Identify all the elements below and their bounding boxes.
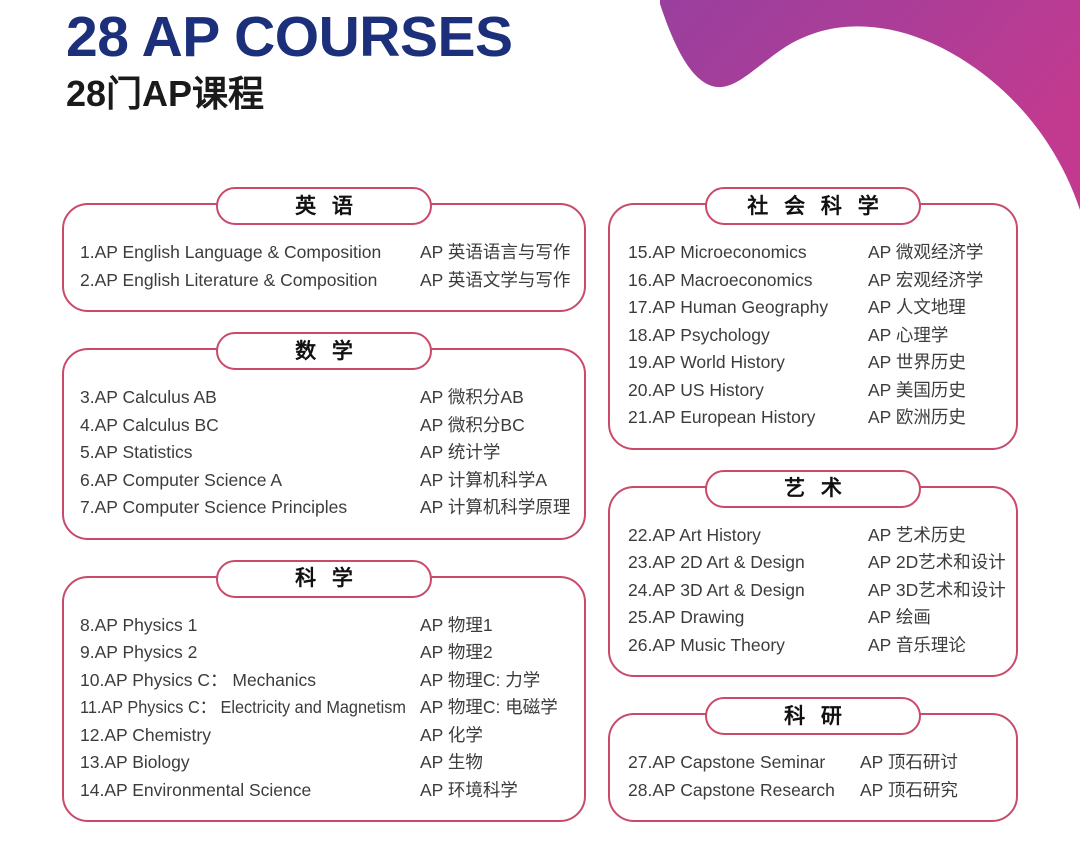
course-name-chinese: AP 微积分AB xyxy=(420,389,524,407)
course-row: 13.AP BiologyAP 生物 xyxy=(80,749,584,777)
subject-card-science: 科 学8.AP Physics 1AP 物理19.AP Physics 2AP … xyxy=(62,576,586,823)
subject-card-math: 数 学3.AP Calculus ABAP 微积分AB4.AP Calculus… xyxy=(62,348,586,540)
course-row: 3.AP Calculus ABAP 微积分AB xyxy=(80,384,584,412)
course-name-chinese: AP 人文地理 xyxy=(868,299,966,317)
course-name-chinese: AP 3D艺术和设计 xyxy=(868,582,1006,600)
subject-card-body: 15.AP MicroeconomicsAP 微观经济学16.AP Macroe… xyxy=(610,205,1016,448)
course-row: 2.AP English Literature & CompositionAP … xyxy=(80,267,584,295)
subject-card-title: 科 学 xyxy=(290,568,358,589)
course-name-chinese: AP 音乐理论 xyxy=(868,637,966,655)
subject-card-header-math: 数 学 xyxy=(216,332,432,370)
subject-card-title: 艺 术 xyxy=(779,478,847,499)
subject-card-english: 英 语1.AP English Language & CompositionAP… xyxy=(62,203,586,312)
subject-card-body: 3.AP Calculus ABAP 微积分AB4.AP Calculus BC… xyxy=(64,350,584,538)
course-row: 8.AP Physics 1AP 物理1 xyxy=(80,612,584,640)
course-name-chinese: AP 欧洲历史 xyxy=(868,409,966,427)
subject-card-title: 社 会 科 学 xyxy=(742,196,884,217)
subject-card-header-science: 科 学 xyxy=(216,560,432,598)
page-title-english: 28 AP COURSES xyxy=(66,8,513,68)
poster-page: 28 AP COURSES 28门AP课程 英 语1.AP English La… xyxy=(0,0,1080,866)
course-name-chinese: AP 微观经济学 xyxy=(868,244,983,262)
course-name-english: 24.AP 3D Art & Design xyxy=(628,582,868,600)
course-row: 6.AP Computer Science AAP 计算机科学A xyxy=(80,467,584,495)
purple-swirl-decoration xyxy=(660,0,1080,210)
course-row: 11.AP Physics C： Electricity and Magneti… xyxy=(80,694,584,722)
course-name-chinese: AP 物理1 xyxy=(420,617,493,635)
course-name-english: 28.AP Capstone Research xyxy=(628,782,860,800)
page-title-chinese: 28门AP课程 xyxy=(66,74,513,114)
subject-card-title: 英 语 xyxy=(290,196,358,217)
course-name-english: 9.AP Physics 2 xyxy=(80,644,420,662)
course-name-english: 19.AP World History xyxy=(628,354,868,372)
course-name-english: 26.AP Music Theory xyxy=(628,637,868,655)
course-name-chinese: AP 物理2 xyxy=(420,644,493,662)
subject-card-body: 8.AP Physics 1AP 物理19.AP Physics 2AP 物理2… xyxy=(64,578,584,821)
course-name-english: 2.AP English Literature & Composition xyxy=(80,272,420,290)
course-name-english: 13.AP Biology xyxy=(80,754,420,772)
course-name-chinese: AP 英语文学与写作 xyxy=(420,272,570,290)
course-row: 20.AP US HistoryAP 美国历史 xyxy=(628,377,1016,405)
course-name-chinese: AP 环境科学 xyxy=(420,782,518,800)
course-row: 25.AP DrawingAP 绘画 xyxy=(628,604,1016,632)
course-name-chinese: AP 生物 xyxy=(420,754,483,772)
course-name-chinese: AP 物理C: 电磁学 xyxy=(420,699,558,717)
course-name-chinese: AP 世界历史 xyxy=(868,354,966,372)
course-name-english: 7.AP Computer Science Principles xyxy=(80,499,420,517)
course-name-chinese: AP 顶石研讨 xyxy=(860,754,958,772)
course-row: 22.AP Art HistoryAP 艺术历史 xyxy=(628,522,1016,550)
course-row: 19.AP World HistoryAP 世界历史 xyxy=(628,349,1016,377)
subject-card-header-art: 艺 术 xyxy=(705,470,921,508)
course-name-english: 5.AP Statistics xyxy=(80,444,420,462)
course-name-english: 12.AP Chemistry xyxy=(80,727,420,745)
course-row: 9.AP Physics 2AP 物理2 xyxy=(80,639,584,667)
course-name-english: 4.AP Calculus BC xyxy=(80,417,420,435)
right-column: 社 会 科 学15.AP MicroeconomicsAP 微观经济学16.AP… xyxy=(608,203,1018,822)
course-name-chinese: AP 艺术历史 xyxy=(868,527,966,545)
course-name-chinese: AP 物理C: 力学 xyxy=(420,672,540,690)
course-name-english: 16.AP Macroeconomics xyxy=(628,272,868,290)
course-name-chinese: AP 化学 xyxy=(420,727,483,745)
course-name-chinese: AP 2D艺术和设计 xyxy=(868,554,1006,572)
course-name-english: 10.AP Physics C： Mechanics xyxy=(80,672,420,690)
course-name-english: 27.AP Capstone Seminar xyxy=(628,754,860,772)
course-row: 23.AP 2D Art & DesignAP 2D艺术和设计 xyxy=(628,549,1016,577)
course-row: 27.AP Capstone SeminarAP 顶石研讨 xyxy=(628,749,1016,777)
subject-card-body: 22.AP Art HistoryAP 艺术历史23.AP 2D Art & D… xyxy=(610,488,1016,676)
course-name-chinese: AP 统计学 xyxy=(420,444,500,462)
course-name-english: 23.AP 2D Art & Design xyxy=(628,554,868,572)
course-name-english: 17.AP Human Geography xyxy=(628,299,868,317)
course-row: 7.AP Computer Science PrinciplesAP 计算机科学… xyxy=(80,494,584,522)
course-row: 5.AP StatisticsAP 统计学 xyxy=(80,439,584,467)
subject-card-header-research: 科 研 xyxy=(705,697,921,735)
left-column: 英 语1.AP English Language & CompositionAP… xyxy=(62,203,586,822)
course-row: 4.AP Calculus BCAP 微积分BC xyxy=(80,412,584,440)
course-row: 1.AP English Language & CompositionAP 英语… xyxy=(80,239,584,267)
course-name-english: 21.AP European History xyxy=(628,409,868,427)
course-row: 28.AP Capstone ResearchAP 顶石研究 xyxy=(628,777,1016,805)
poster-header: 28 AP COURSES 28门AP课程 xyxy=(66,8,513,113)
subject-card-header-social-science: 社 会 科 学 xyxy=(705,187,921,225)
course-row: 17.AP Human GeographyAP 人文地理 xyxy=(628,294,1016,322)
course-row: 12.AP ChemistryAP 化学 xyxy=(80,722,584,750)
course-row: 26.AP Music TheoryAP 音乐理论 xyxy=(628,632,1016,660)
course-row: 14.AP Environmental ScienceAP 环境科学 xyxy=(80,777,584,805)
course-row: 18.AP PsychologyAP 心理学 xyxy=(628,322,1016,350)
subject-card-social-science: 社 会 科 学15.AP MicroeconomicsAP 微观经济学16.AP… xyxy=(608,203,1018,450)
course-name-english: 20.AP US History xyxy=(628,382,868,400)
course-row: 10.AP Physics C： MechanicsAP 物理C: 力学 xyxy=(80,667,584,695)
course-name-english: 3.AP Calculus AB xyxy=(80,389,420,407)
course-name-english: 22.AP Art History xyxy=(628,527,868,545)
course-row: 15.AP MicroeconomicsAP 微观经济学 xyxy=(628,239,1016,267)
course-name-chinese: AP 美国历史 xyxy=(868,382,966,400)
course-name-chinese: AP 心理学 xyxy=(868,327,948,345)
course-name-english: 18.AP Psychology xyxy=(628,327,868,345)
course-row: 21.AP European HistoryAP 欧洲历史 xyxy=(628,404,1016,432)
course-name-chinese: AP 微积分BC xyxy=(420,417,525,435)
course-name-chinese: AP 计算机科学A xyxy=(420,472,547,490)
course-name-chinese: AP 计算机科学原理 xyxy=(420,499,570,517)
subject-card-research: 科 研27.AP Capstone SeminarAP 顶石研讨28.AP Ca… xyxy=(608,713,1018,822)
course-name-english: 1.AP English Language & Composition xyxy=(80,244,420,262)
subject-card-header-english: 英 语 xyxy=(216,187,432,225)
course-name-english: 8.AP Physics 1 xyxy=(80,617,420,635)
course-name-chinese: AP 英语语言与写作 xyxy=(420,244,570,262)
course-name-chinese: AP 顶石研究 xyxy=(860,782,958,800)
subject-card-title: 数 学 xyxy=(290,341,358,362)
course-name-english: 14.AP Environmental Science xyxy=(80,782,420,800)
course-name-chinese: AP 绘画 xyxy=(868,609,931,627)
course-name-english: 6.AP Computer Science A xyxy=(80,472,420,490)
course-name-chinese: AP 宏观经济学 xyxy=(868,272,983,290)
course-row: 24.AP 3D Art & DesignAP 3D艺术和设计 xyxy=(628,577,1016,605)
course-name-english: 25.AP Drawing xyxy=(628,609,868,627)
course-name-english: 11.AP Physics C： Electricity and Magneti… xyxy=(80,699,396,717)
subject-card-art: 艺 术22.AP Art HistoryAP 艺术历史23.AP 2D Art … xyxy=(608,486,1018,678)
course-row: 16.AP MacroeconomicsAP 宏观经济学 xyxy=(628,267,1016,295)
course-name-english: 15.AP Microeconomics xyxy=(628,244,868,262)
subject-card-title: 科 研 xyxy=(779,706,847,727)
